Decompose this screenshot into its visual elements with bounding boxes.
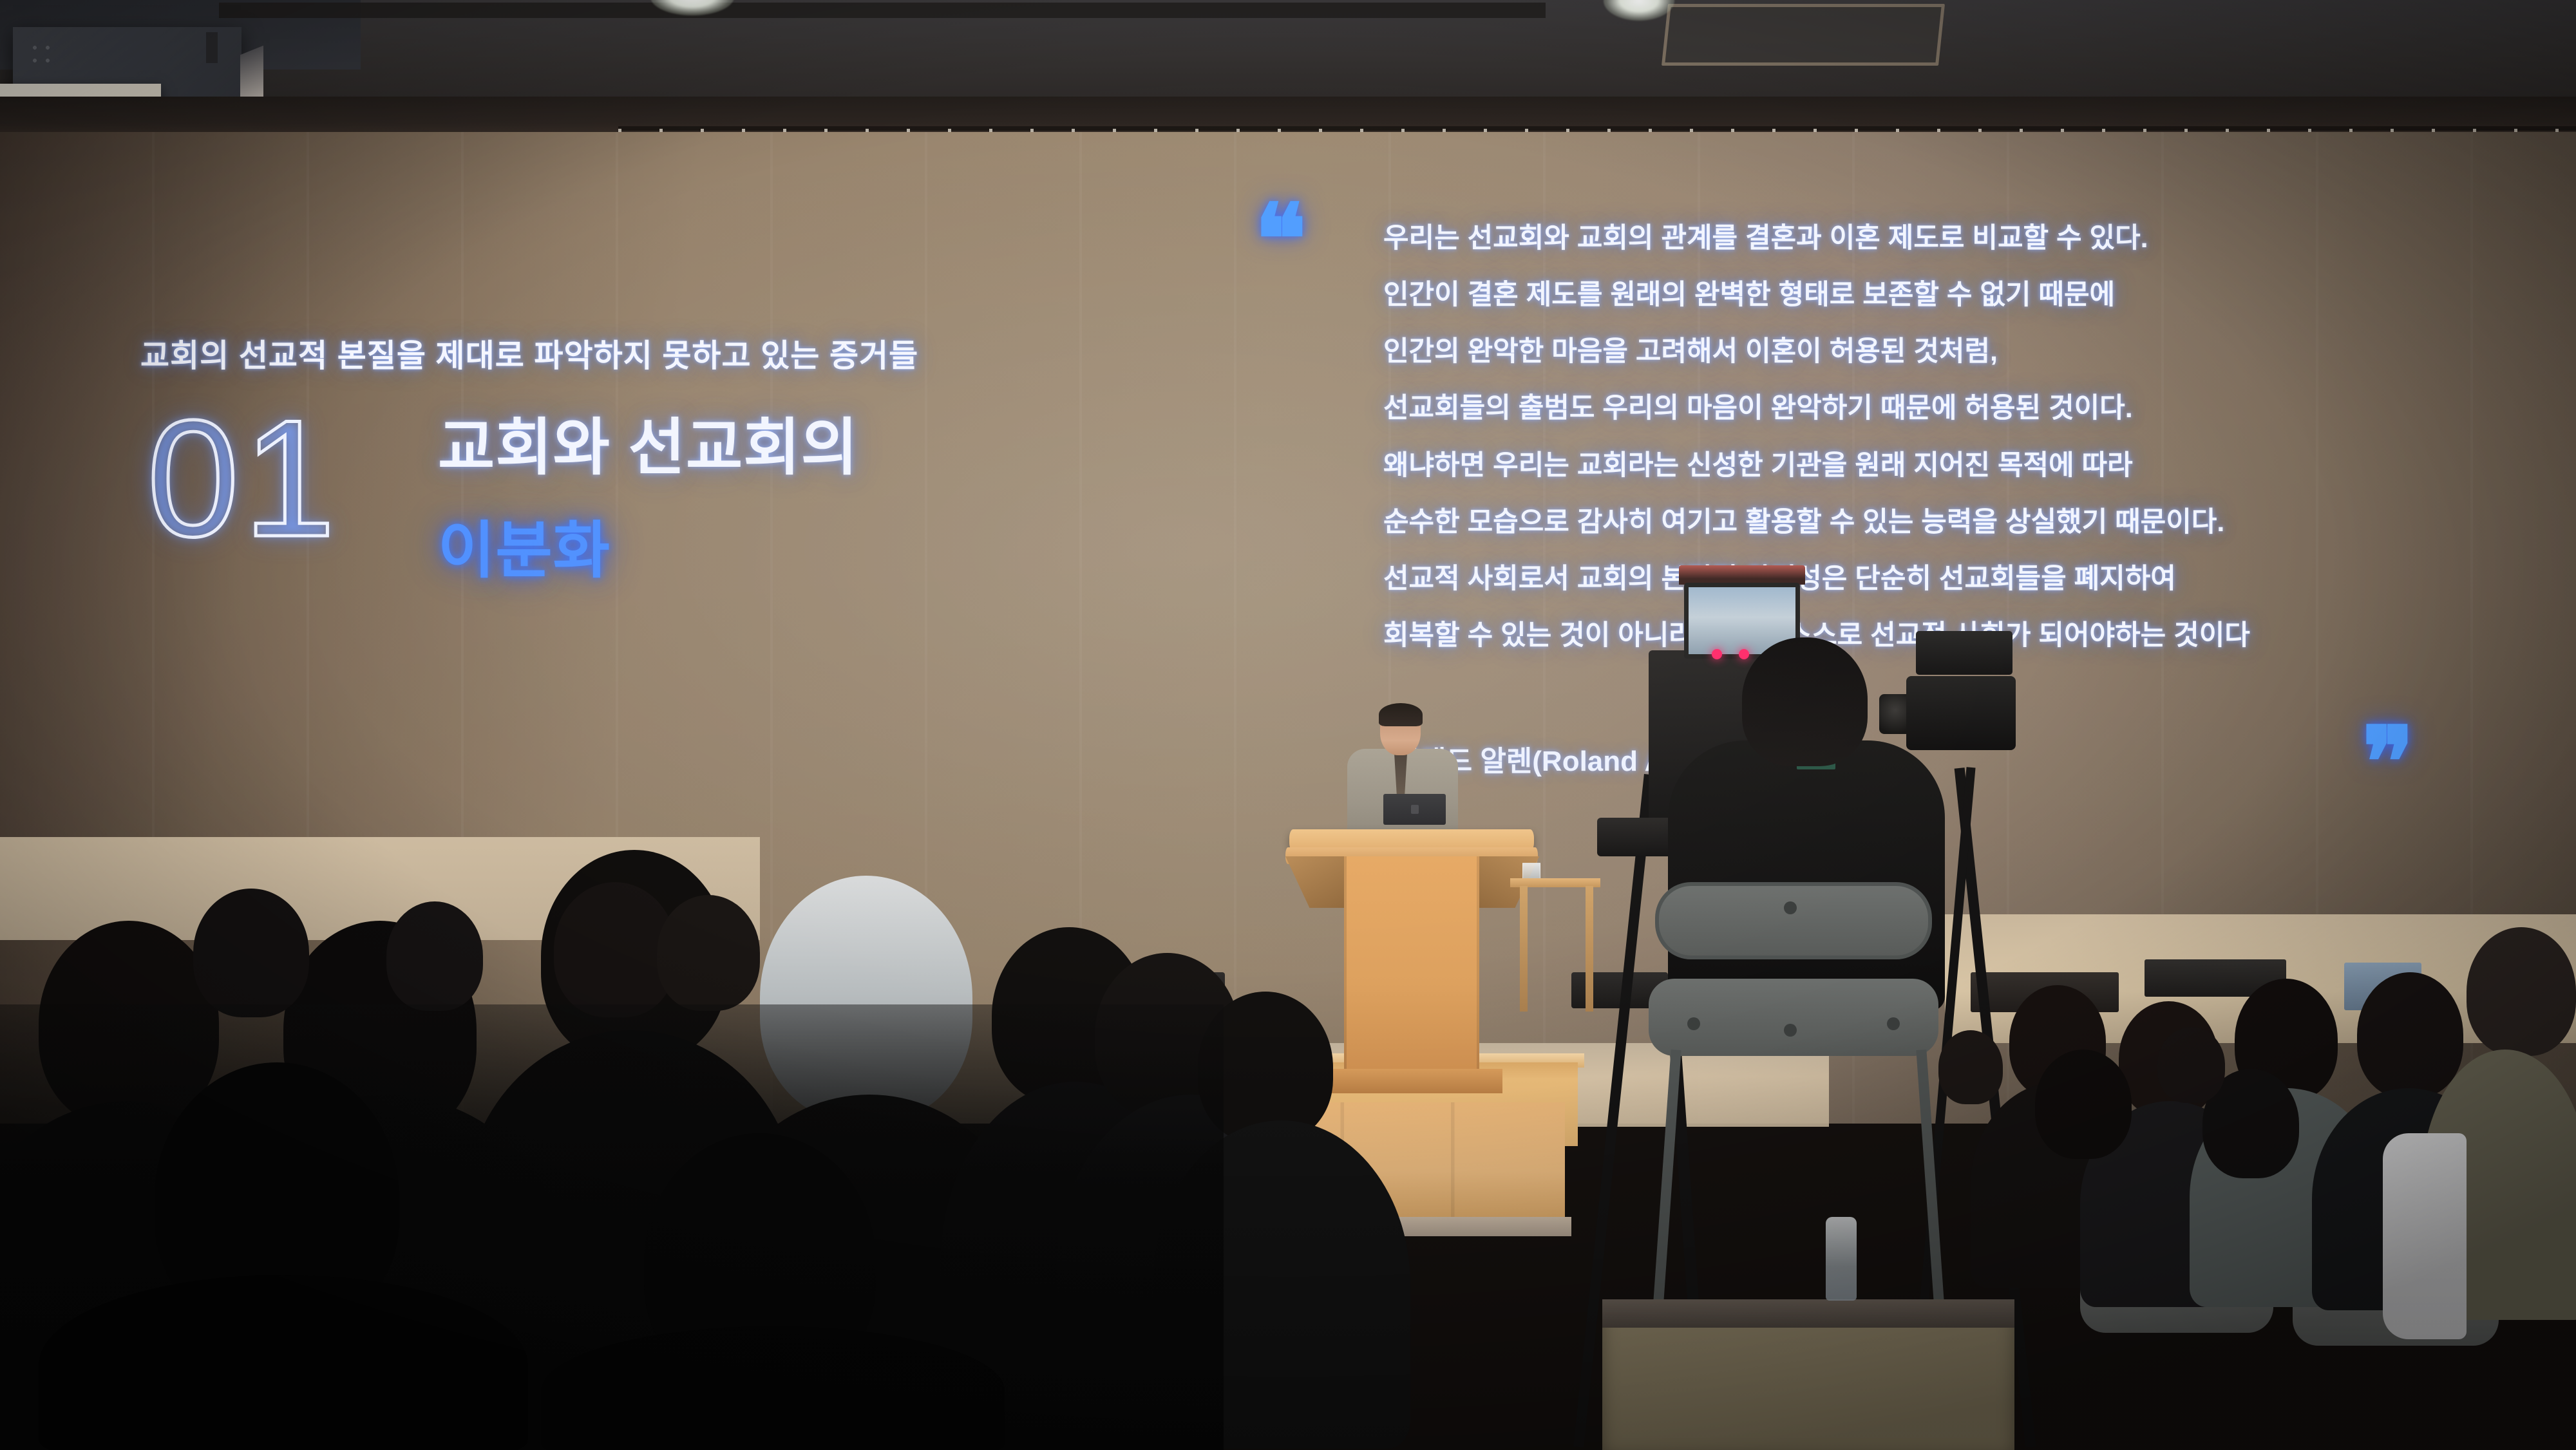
audience-shoulders bbox=[39, 1275, 528, 1450]
quote-close-icon: ❞ bbox=[2362, 728, 2410, 797]
drinking-glass bbox=[1522, 863, 1540, 880]
chair-rivet bbox=[1687, 1017, 1700, 1030]
audience-head bbox=[2467, 927, 2576, 1056]
audience-head bbox=[2035, 1050, 2132, 1159]
audience-head bbox=[193, 889, 309, 1017]
tripod-head bbox=[1916, 631, 2012, 675]
quote-line: 인간의 완악한 마음을 고려해서 이혼이 허용된 것처럼, bbox=[1383, 337, 2478, 366]
ceiling-access-panel bbox=[1662, 4, 1945, 66]
chair-rivet bbox=[1887, 1017, 1900, 1030]
camera-record-led bbox=[1739, 649, 1749, 659]
camera-record-led bbox=[1712, 649, 1722, 659]
water-bottle bbox=[1826, 1217, 1857, 1301]
speaker-grille-icon bbox=[31, 44, 57, 68]
presenter-hair bbox=[1379, 703, 1423, 726]
quote-line: 선교회들의 출범도 우리의 마음이 완악하기 때문에 허용된 것이다. bbox=[1383, 394, 2478, 423]
quote-line: 선교적 사회로서 교회의 본질적 완전성은 단순히 선교회들을 폐지하여 bbox=[1383, 565, 2478, 594]
audience-shoulders bbox=[541, 1326, 1005, 1450]
slide-heading-accent: 이분화 bbox=[438, 515, 611, 587]
slide-heading-primary: 교회와 선교회의 bbox=[438, 412, 858, 484]
quote-line: 인간이 결혼 제도를 원래의 완벽한 형태로 보존할 수 없기 때문에 bbox=[1383, 281, 2478, 310]
audience-head bbox=[386, 901, 483, 1011]
laptop-on-lectern bbox=[1383, 794, 1446, 825]
slide-kicker-text: 교회의 선교적 본질을 제대로 파악하지 못하고 있는 증거들 bbox=[140, 330, 918, 376]
audience-head bbox=[2357, 972, 2463, 1098]
chair-rivet bbox=[1784, 901, 1797, 914]
ceiling-beam bbox=[219, 3, 1546, 18]
plywood-riser-top bbox=[1602, 1299, 2014, 1328]
slide-section-number: 01 bbox=[147, 395, 339, 561]
quote-line: 왜냐하면 우리는 교회라는 신성한 기관을 원래 지어진 목적에 따라 bbox=[1383, 451, 2478, 480]
camera-operator-head bbox=[1742, 637, 1868, 766]
speaker-mount bbox=[206, 32, 218, 63]
audience-head bbox=[2157, 1027, 2225, 1103]
audience-head bbox=[657, 895, 760, 1011]
camera-monitor-hood bbox=[1679, 565, 1805, 585]
side-table-leg bbox=[1586, 886, 1593, 1012]
camera-operator-body bbox=[1668, 740, 1945, 1011]
lectern-base bbox=[1323, 1069, 1502, 1093]
side-table-leg bbox=[1520, 886, 1528, 1012]
dslr-camera-body bbox=[1906, 676, 2016, 750]
folding-chair-back bbox=[1655, 882, 1932, 959]
chair-rivet bbox=[1784, 1024, 1797, 1037]
photo-scene: 교회의 선교적 본질을 제대로 파악하지 못하고 있는 증거들 01 교회와 선… bbox=[0, 0, 2576, 1450]
quote-line: 순수한 모습으로 감사히 여기고 활용할 수 있는 능력을 상실했기 때문이다. bbox=[1383, 508, 2478, 537]
lectern-body bbox=[1344, 856, 1479, 1088]
slide-quote-block: 우리는 선교회와 교회의 관계를 결혼과 이혼 제도로 비교할 수 있다. 인간… bbox=[1383, 224, 2478, 678]
quote-line: 우리는 선교회와 교회의 관계를 결혼과 이혼 제도로 비교할 수 있다. bbox=[1383, 224, 2478, 253]
audience-head bbox=[1938, 1030, 2003, 1104]
quote-open-icon: ❝ bbox=[1255, 205, 1303, 274]
audience-white-sleeve bbox=[2383, 1133, 2467, 1339]
